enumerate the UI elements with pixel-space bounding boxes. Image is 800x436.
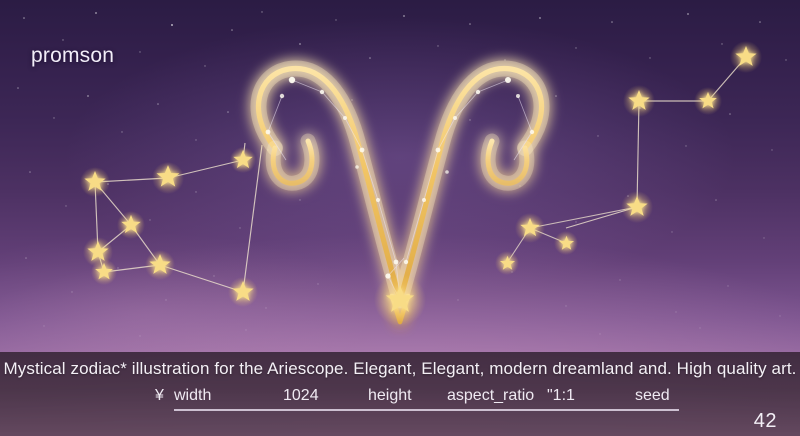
generated-image-card: promson Mystical zodiac* illustration fo… <box>0 0 800 436</box>
height-label[interactable]: height <box>368 385 412 407</box>
seed-label[interactable]: seed <box>635 385 670 407</box>
aspect-ratio-value[interactable]: "1:1 <box>547 385 575 407</box>
prompt-text: Mystical zodiac* illustration for the Ar… <box>0 358 800 379</box>
constellation-lines-right <box>566 57 746 228</box>
parameters-row: ¥ width 1024 height aspect_ratio "1:1 se… <box>155 385 665 411</box>
aspect-ratio-label[interactable]: aspect_ratio <box>447 385 534 407</box>
currency-icon: ¥ <box>155 385 164 407</box>
seed-value[interactable]: 42 <box>754 410 777 433</box>
star-glows <box>80 41 762 326</box>
caption-bar: Mystical zodiac* illustration for the Ar… <box>0 352 800 436</box>
glyph-inner-star-lines <box>268 80 532 300</box>
parameters-underline <box>174 409 679 411</box>
watermark-label: promson <box>31 44 114 68</box>
width-label[interactable]: width <box>174 385 211 407</box>
width-value[interactable]: 1024 <box>283 385 319 407</box>
